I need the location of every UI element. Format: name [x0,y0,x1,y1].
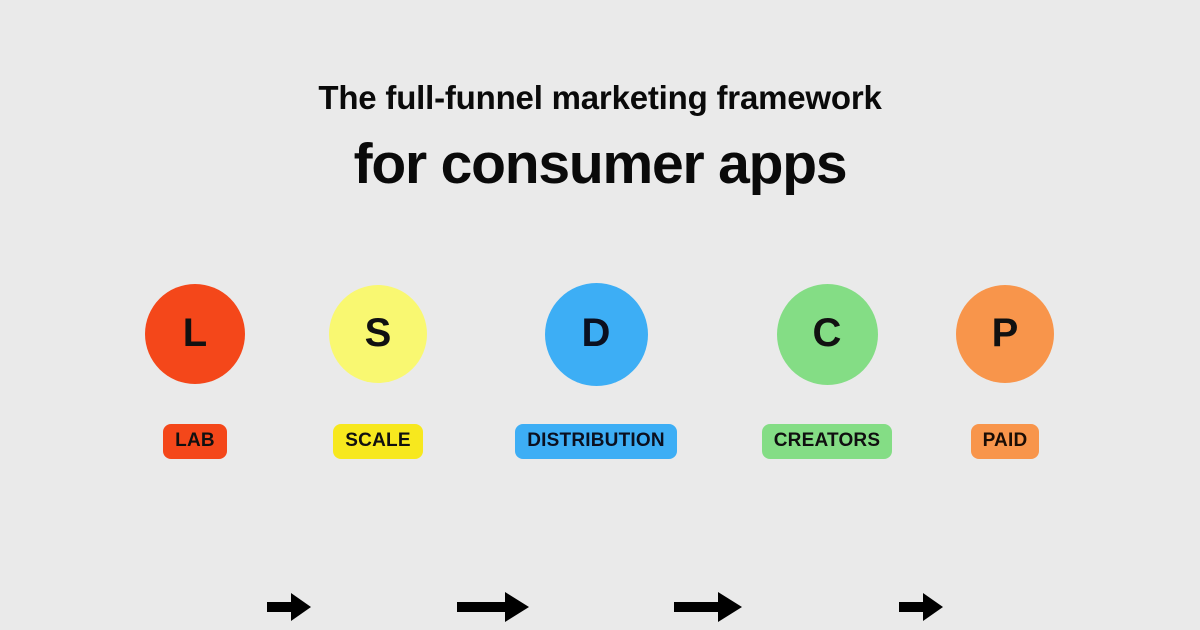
chip-wrap-distribution: DISTRIBUTION [526,424,666,459]
circle-wrap-paid: P [935,272,1075,396]
funnel-stage-paid[interactable]: P PAID [935,272,1075,459]
stage-circle-distribution[interactable]: D [545,283,648,386]
stage-label-lab[interactable]: LAB [163,424,227,459]
chip-wrap-scale: SCALE [308,424,448,459]
arrow-right-icon-creators-to-paid [897,590,945,624]
stage-letter-creators: C [813,313,842,353]
circle-wrap-lab: L [125,272,265,396]
stage-label-distribution[interactable]: DISTRIBUTION [515,424,677,459]
chip-wrap-paid: PAID [935,424,1075,459]
stage-letter-distribution: D [582,313,611,353]
stage-letter-scale: S [365,313,392,353]
title-line-1: The full-funnel marketing framework [0,78,1200,118]
funnel-stage-distribution[interactable]: D DISTRIBUTION [526,272,666,459]
funnel-stage-scale[interactable]: S SCALE [308,272,448,459]
stage-circle-paid[interactable]: P [956,285,1054,383]
title-line-2: for consumer apps [0,128,1200,200]
stage-letter-paid: P [992,313,1019,353]
funnel-stage-creators[interactable]: C CREATORS [757,272,897,459]
arrow-right-icon-distribution-to-creators [672,590,744,624]
funnel-stage-lab[interactable]: L LAB [125,272,265,459]
stage-circle-scale[interactable]: S [329,285,427,383]
stage-label-creators[interactable]: CREATORS [762,424,892,459]
funnel-diagram: L LAB S SCALE [0,272,1200,472]
circle-wrap-distribution: D [526,272,666,396]
page-title: The full-funnel marketing framework for … [0,78,1200,200]
stage-label-scale[interactable]: SCALE [333,424,422,459]
stage-circle-lab[interactable]: L [145,284,245,384]
circle-wrap-scale: S [308,272,448,396]
circle-wrap-creators: C [757,272,897,396]
stage-letter-lab: L [183,313,207,353]
poster-canvas: The full-funnel marketing framework for … [0,0,1200,630]
chip-wrap-lab: LAB [125,424,265,459]
stage-circle-creators[interactable]: C [777,284,878,385]
arrow-right-icon-scale-to-distribution [455,590,531,624]
chip-wrap-creators: CREATORS [757,424,897,459]
stage-label-paid[interactable]: PAID [971,424,1040,459]
arrow-right-icon-lab-to-scale [265,590,313,624]
